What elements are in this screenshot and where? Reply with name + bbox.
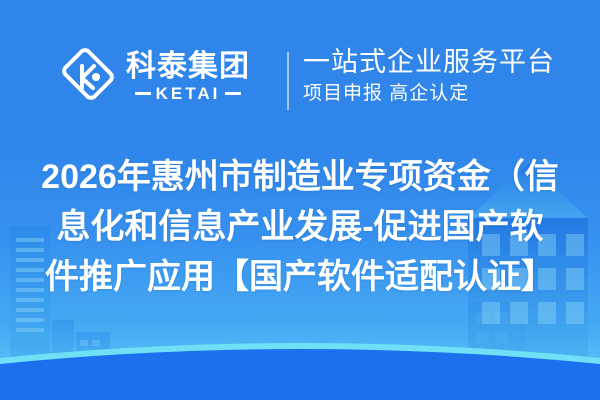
brand-name-en-row: KETAI [126, 85, 250, 102]
header-divider [287, 52, 289, 110]
tagline-secondary: 项目申报 高企认定 [303, 82, 555, 106]
brand-tagline: 一站式企业服务平台 项目申报 高企认定 [303, 46, 555, 106]
wordmark-dash-right [225, 92, 241, 95]
brand-logo[interactable]: 科泰集团 KETAI [60, 46, 250, 108]
title-line-2: 息化和信息产业发展-促进国产软 [0, 202, 600, 252]
curved-arc-divider-icon [0, 300, 600, 400]
title-line-1: 2026年惠州市制造业专项资金（信 [0, 152, 600, 202]
brand-wordmark: 科泰集团 KETAI [126, 52, 250, 102]
brand-name-en: KETAI [156, 85, 221, 102]
promo-banner: 2026年惠州市制造业专项资金（信 息化和信息产业发展-促进国产软 件推广应用【… [0, 0, 600, 400]
brand-name-cn: 科泰集团 [126, 52, 250, 82]
title-line-3: 件推广应用【国产软件适配认证】 [0, 252, 600, 302]
wordmark-dash-left [135, 92, 151, 95]
banner-header: 科泰集团 KETAI 一站式企业服务平台 项目申报 高企认定 [0, 0, 600, 142]
banner-title: 2026年惠州市制造业专项资金（信 息化和信息产业发展-促进国产软 件推广应用【… [0, 152, 600, 302]
ketai-kp-diamond-icon [60, 46, 116, 108]
tagline-primary: 一站式企业服务平台 [303, 46, 555, 78]
